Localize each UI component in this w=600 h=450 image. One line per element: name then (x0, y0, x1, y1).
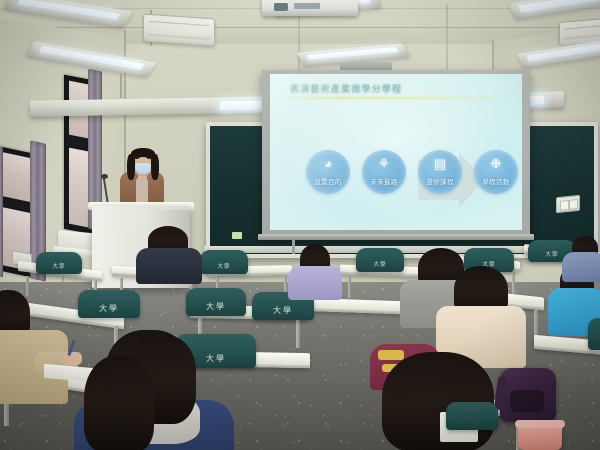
path-icon: ⚘ (362, 157, 406, 170)
desk-leg (26, 276, 29, 296)
backpack (500, 368, 556, 422)
chalk-piece (232, 232, 242, 239)
ceiling-seam (0, 27, 600, 28)
air-conditioner-left (143, 13, 215, 46)
curtain-far-left (0, 145, 3, 277)
presentation-slide: 表演藝術產業微學分學程 ◕ 設置目的 ⚘ 未來進路 ▤ 選修課程 ❉ 學程活動 (270, 74, 522, 230)
slide-step-2: ⚘ 未來進路 (362, 150, 406, 194)
screen-weight-bar (258, 234, 534, 240)
microphone-icon (101, 174, 108, 179)
student-1-body (136, 248, 202, 284)
projector-label (294, 3, 320, 9)
light-hanger-left (120, 74, 122, 98)
student-9-badge (378, 350, 404, 360)
desk-leg (296, 318, 300, 348)
chair-back-3: 大學 (356, 248, 404, 272)
student-6-body (562, 252, 600, 282)
chair-mid-1: 大學 (186, 288, 246, 316)
slide-step-2-label: 未來進路 (362, 176, 406, 186)
classroom-photo: 表演藝術產業微學分學程 ◕ 設置目的 ⚘ 未來進路 ▤ 選修課程 ❉ 學程活動 (0, 0, 600, 450)
chair-back-2: 大學 (200, 250, 248, 274)
slide-step-1-label: 設置目的 (306, 176, 350, 186)
slide-title: 表演藝術產業微學分學程 (290, 82, 506, 95)
document-icon: ▤ (418, 157, 462, 170)
activity-icon: ❉ (474, 157, 518, 170)
slide-step-4-label: 學程活動 (474, 176, 518, 186)
presenter-hair-left (127, 154, 135, 180)
slide-step-3: ▤ 選修課程 (418, 150, 462, 194)
chair-mid-3: 大學 (78, 290, 140, 318)
slide-step-3-label: 選修課程 (418, 176, 462, 186)
presenter-hair-right (151, 154, 159, 180)
student-2-body (288, 266, 342, 300)
slide-divider-line (288, 97, 502, 99)
globe-icon: ◕ (306, 157, 350, 170)
slide-step-4: ❉ 學程活動 (474, 150, 518, 194)
student-7-hand (62, 352, 82, 365)
chair-front-2 (588, 318, 600, 350)
student-10-hair (84, 356, 154, 450)
ceiling-projector (262, 0, 358, 16)
pink-container (518, 424, 562, 450)
desk-leg (348, 276, 351, 298)
slide-step-1: ◕ 設置目的 (306, 150, 350, 194)
projector-lens-icon (274, 3, 288, 11)
light-switch-panel[interactable] (556, 195, 580, 214)
chair-front-right (446, 402, 498, 430)
desk-leg (512, 272, 515, 296)
chair-back-1: 大學 (36, 252, 82, 274)
screen-support-pole (292, 240, 295, 254)
